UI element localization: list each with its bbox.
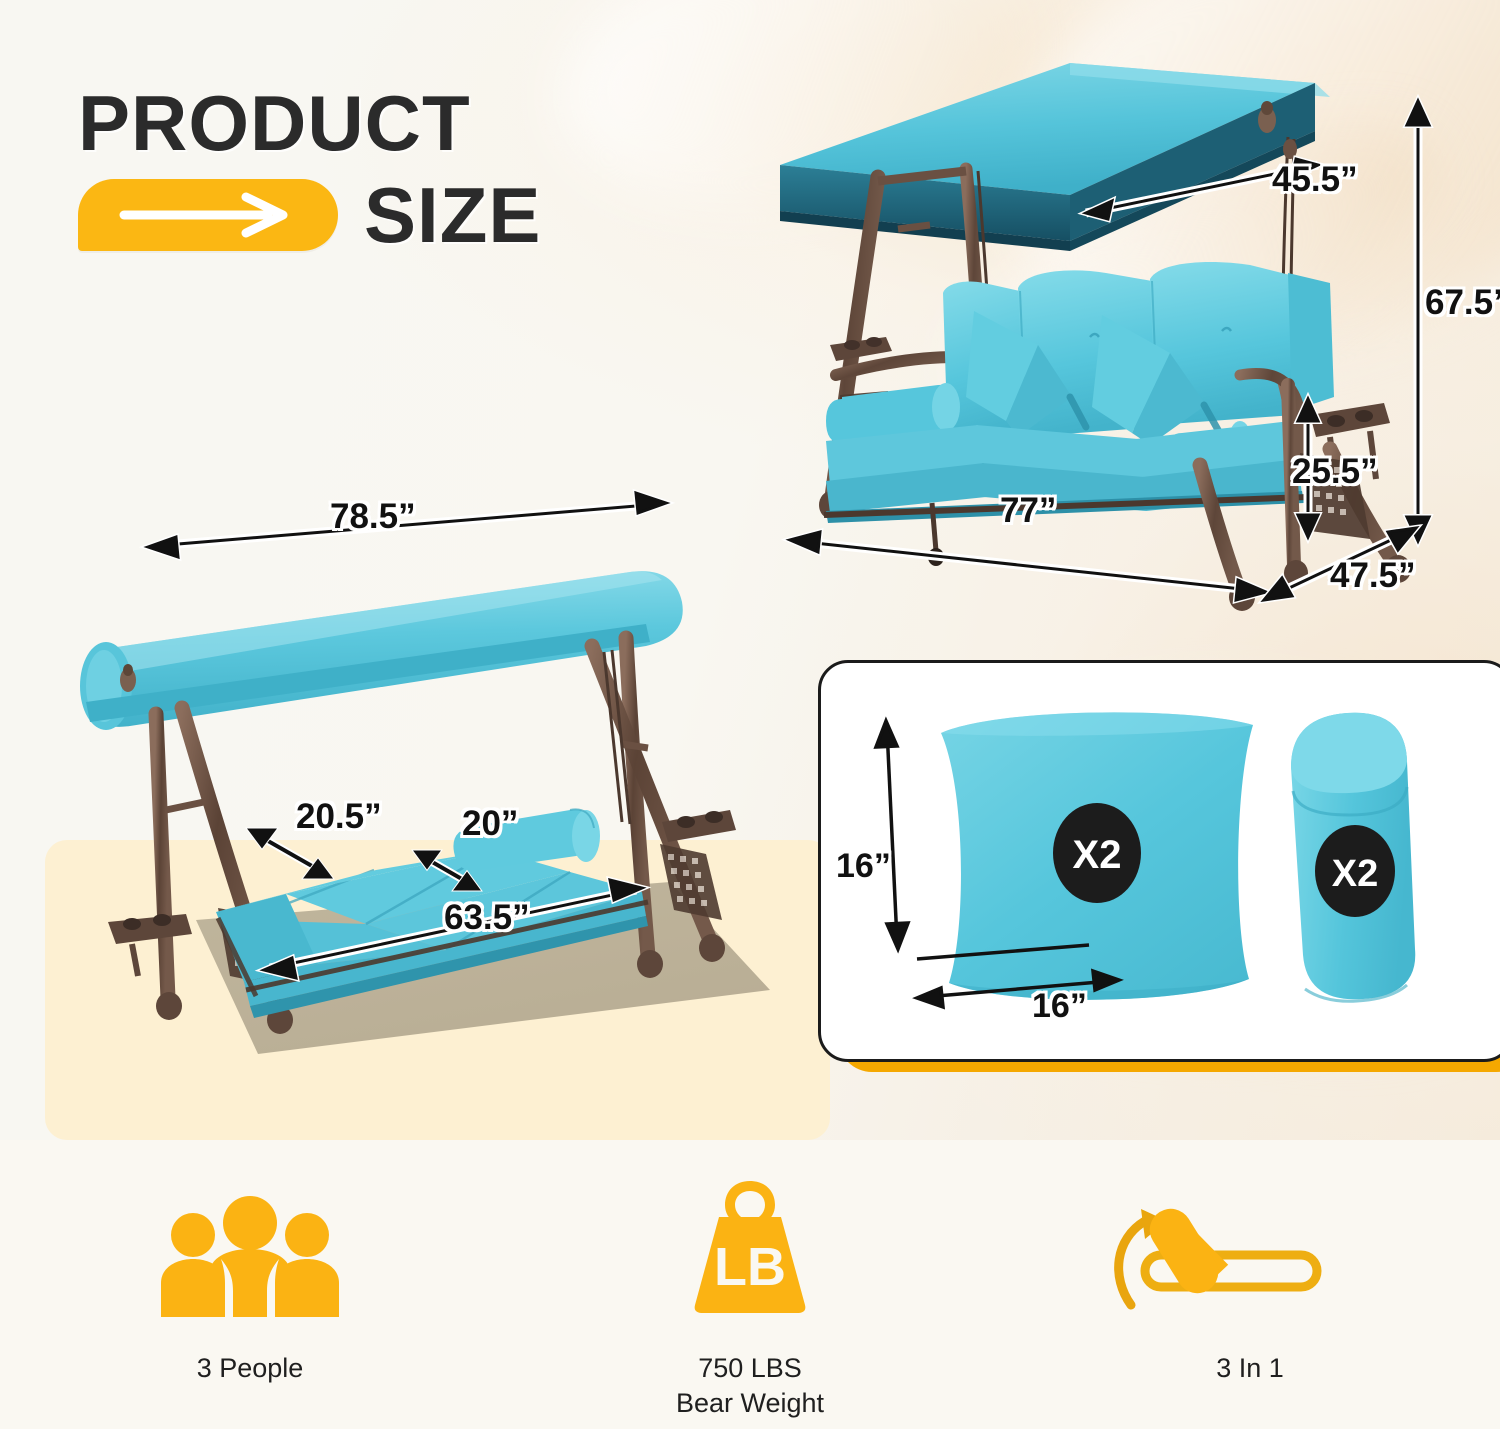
page-header: PRODUCT SIZE <box>78 86 738 252</box>
convertible-recline-icon <box>1105 1185 1395 1317</box>
included-pillows-panel: X2 X2 <box>818 660 1500 1062</box>
bed-view-dimension-arrows <box>70 480 800 1100</box>
infographic-canvas: PRODUCT SIZE <box>0 0 1500 1429</box>
feature-weight-line1: 750 LBS <box>676 1351 824 1386</box>
dim-overall-width: 77” <box>1000 491 1056 531</box>
seat-view-dimension-arrows <box>770 45 1500 605</box>
weight-lb-icon: LB <box>675 1185 825 1317</box>
dim-canopy-width: 78.5” <box>330 497 416 537</box>
dim-cushion-section-b: 20” <box>462 804 518 844</box>
dim-bed-length: 63.5” <box>444 898 530 938</box>
feature-capacity-label: 3 People <box>197 1351 304 1386</box>
dim-cushion-section-a: 20.5” <box>296 797 382 837</box>
page-title-line2: SIZE <box>364 178 541 252</box>
right-arrow-icon <box>78 179 338 251</box>
feature-convertible: 3 In 1 <box>1000 1185 1500 1420</box>
feature-list: 3 People LB 750 LBS Bear Weight <box>0 1185 1500 1420</box>
dim-pillow-height: 16” <box>836 847 891 886</box>
feature-weight: LB 750 LBS Bear Weight <box>500 1185 1000 1420</box>
square-pillow-quantity: X2 <box>1073 833 1122 877</box>
dim-canopy-depth: 45.5” <box>1272 160 1358 200</box>
svg-text:LB: LB <box>714 1237 786 1297</box>
dim-pillow-width: 16” <box>1032 987 1087 1026</box>
dim-overall-height: 67.5” <box>1425 283 1500 323</box>
dim-seat-height: 25.5” <box>1292 452 1378 492</box>
feature-convertible-label: 3 In 1 <box>1216 1351 1284 1386</box>
dim-overall-depth: 47.5” <box>1330 556 1416 596</box>
feature-weight-line2: Bear Weight <box>676 1386 824 1421</box>
feature-weight-label: 750 LBS Bear Weight <box>676 1351 824 1420</box>
three-people-icon <box>155 1185 345 1317</box>
page-title-line1: PRODUCT <box>78 86 738 160</box>
bolster-pillow-quantity: X2 <box>1332 853 1378 895</box>
feature-capacity: 3 People <box>0 1185 500 1420</box>
